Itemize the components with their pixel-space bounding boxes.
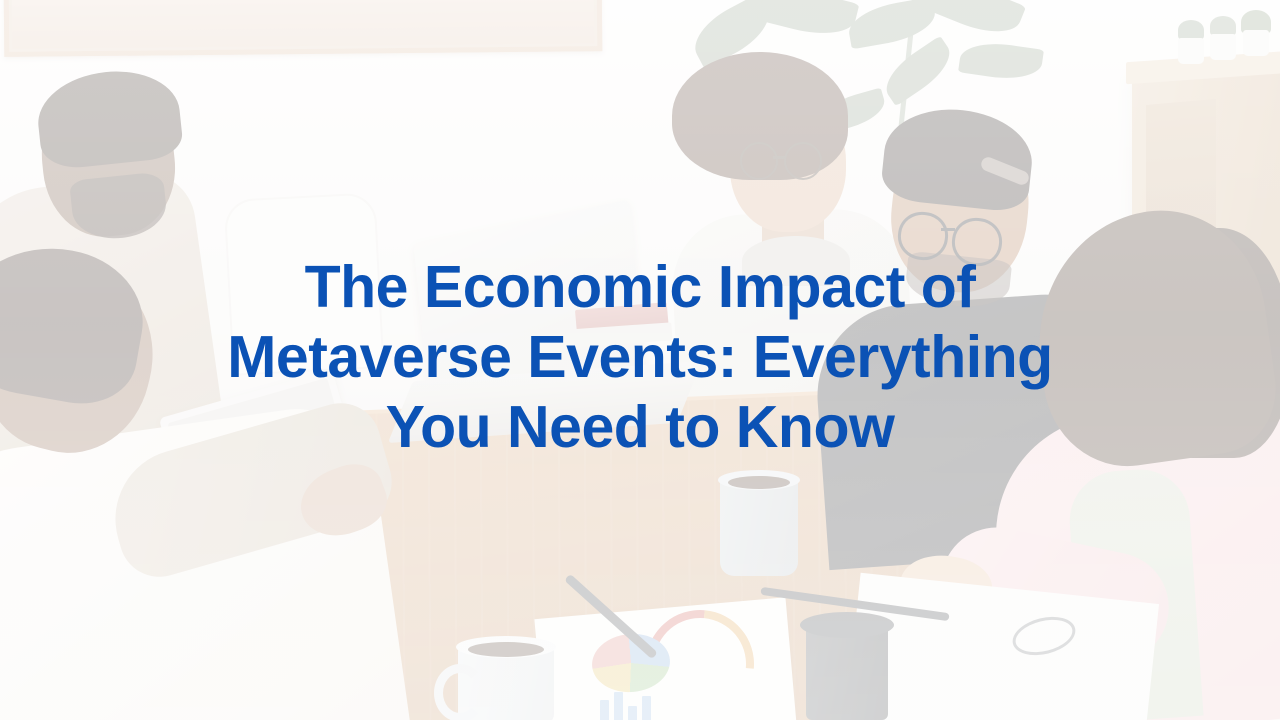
gray-coffee-cup <box>720 478 798 576</box>
bar-chart-bar <box>600 700 609 720</box>
bar-chart-bar <box>642 696 651 720</box>
bar-chart-bar <box>628 706 637 720</box>
corkboard-surface <box>12 0 594 49</box>
shelf-plant-leaf <box>1178 20 1204 40</box>
framed-corkboard <box>4 0 603 57</box>
shelf-plant-pot <box>1243 30 1269 56</box>
shelf-plant-pot <box>1210 34 1236 60</box>
article-hero-banner: The Economic Impact of Metaverse Events:… <box>0 0 1280 720</box>
round-glasses-icon <box>740 142 778 180</box>
bar-chart-bar <box>614 692 623 720</box>
office-chair <box>223 192 384 376</box>
round-glasses-icon <box>784 142 822 180</box>
background-photo <box>0 0 1280 720</box>
shelf-plant-leaf <box>1210 16 1236 36</box>
shelf-plant-pot <box>1178 38 1204 64</box>
